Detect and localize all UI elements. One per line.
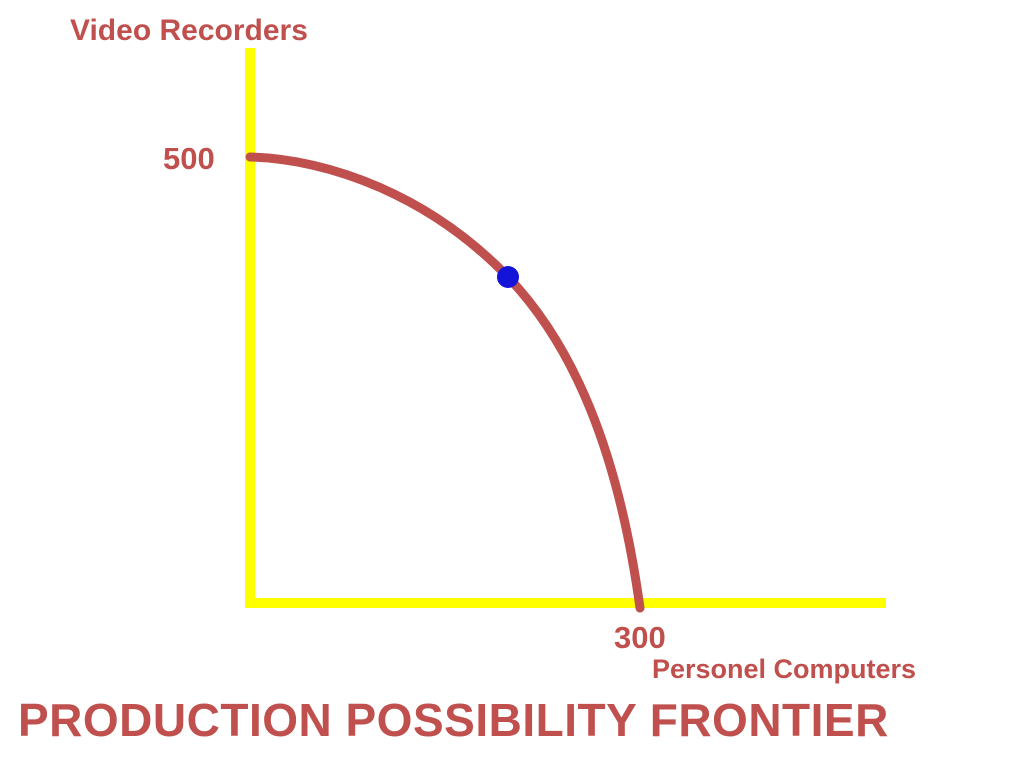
y-axis-tick-label-500: 500 — [163, 143, 215, 174]
efficient-production-point-marker[interactable] — [497, 266, 519, 288]
chart-title: PRODUCTION POSSIBILITY FRONTIER — [18, 697, 889, 743]
x-axis-title: Personel Computers — [652, 656, 916, 683]
chart-canvas: Video Recorders 500 300 Personel Compute… — [0, 0, 1024, 768]
x-axis-tick-label-300: 300 — [614, 622, 666, 653]
ppf-curve — [250, 157, 640, 608]
ppf-chart-graphic — [0, 0, 1024, 768]
y-axis-title: Video Recorders — [70, 16, 308, 46]
